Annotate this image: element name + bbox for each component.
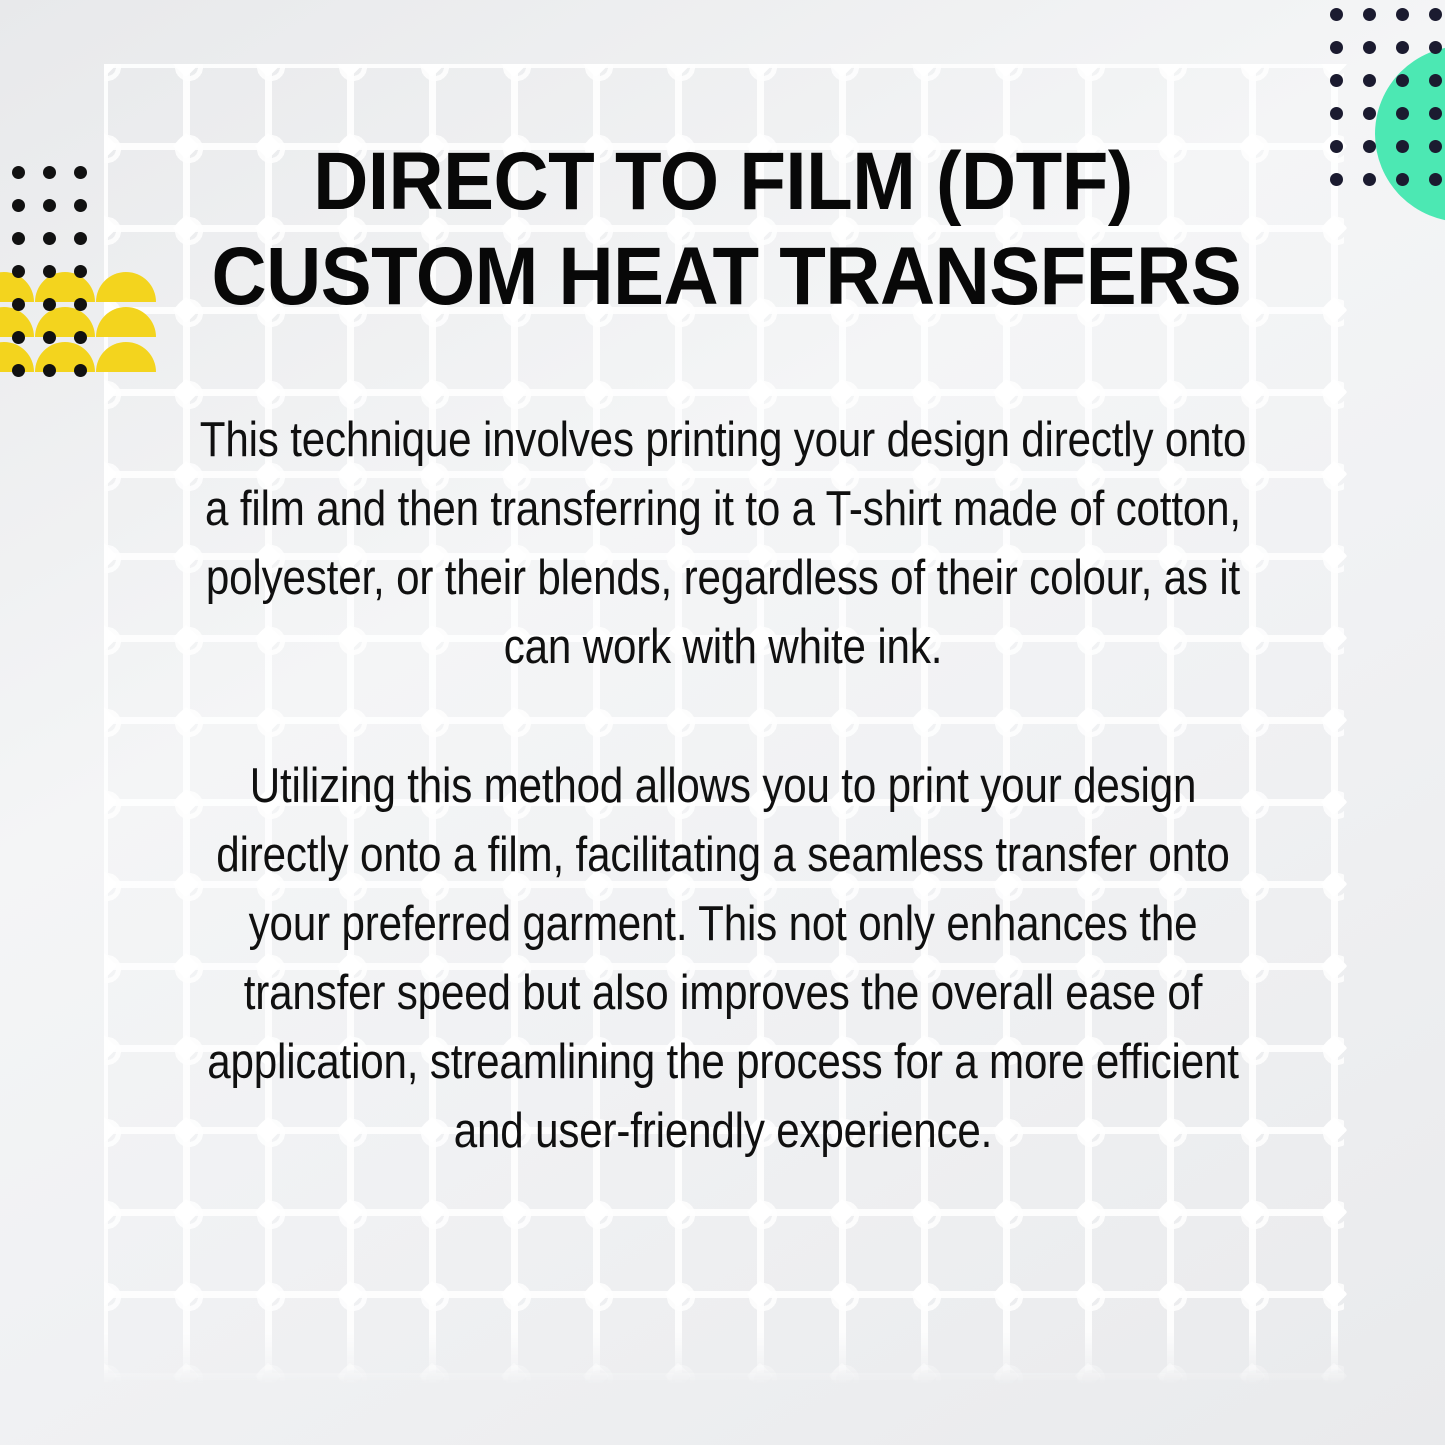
poster-content: DIRECT TO FILM (DTF) CUSTOM HEAT TRANSFE… (0, 0, 1445, 1445)
headline-line-2: CUSTOM HEAT TRANSFERS (211, 229, 1234, 324)
page-title: DIRECT TO FILM (DTF) CUSTOM HEAT TRANSFE… (211, 134, 1234, 324)
body-paragraph-1: This technique involves printing your de… (185, 406, 1260, 682)
poster-canvas: DIRECT TO FILM (DTF) CUSTOM HEAT TRANSFE… (0, 0, 1445, 1445)
headline-line-1: DIRECT TO FILM (DTF) (211, 134, 1234, 229)
body-paragraph-2: Utilizing this method allows you to prin… (185, 752, 1260, 1166)
body-copy: This technique involves printing your de… (98, 406, 1348, 1166)
